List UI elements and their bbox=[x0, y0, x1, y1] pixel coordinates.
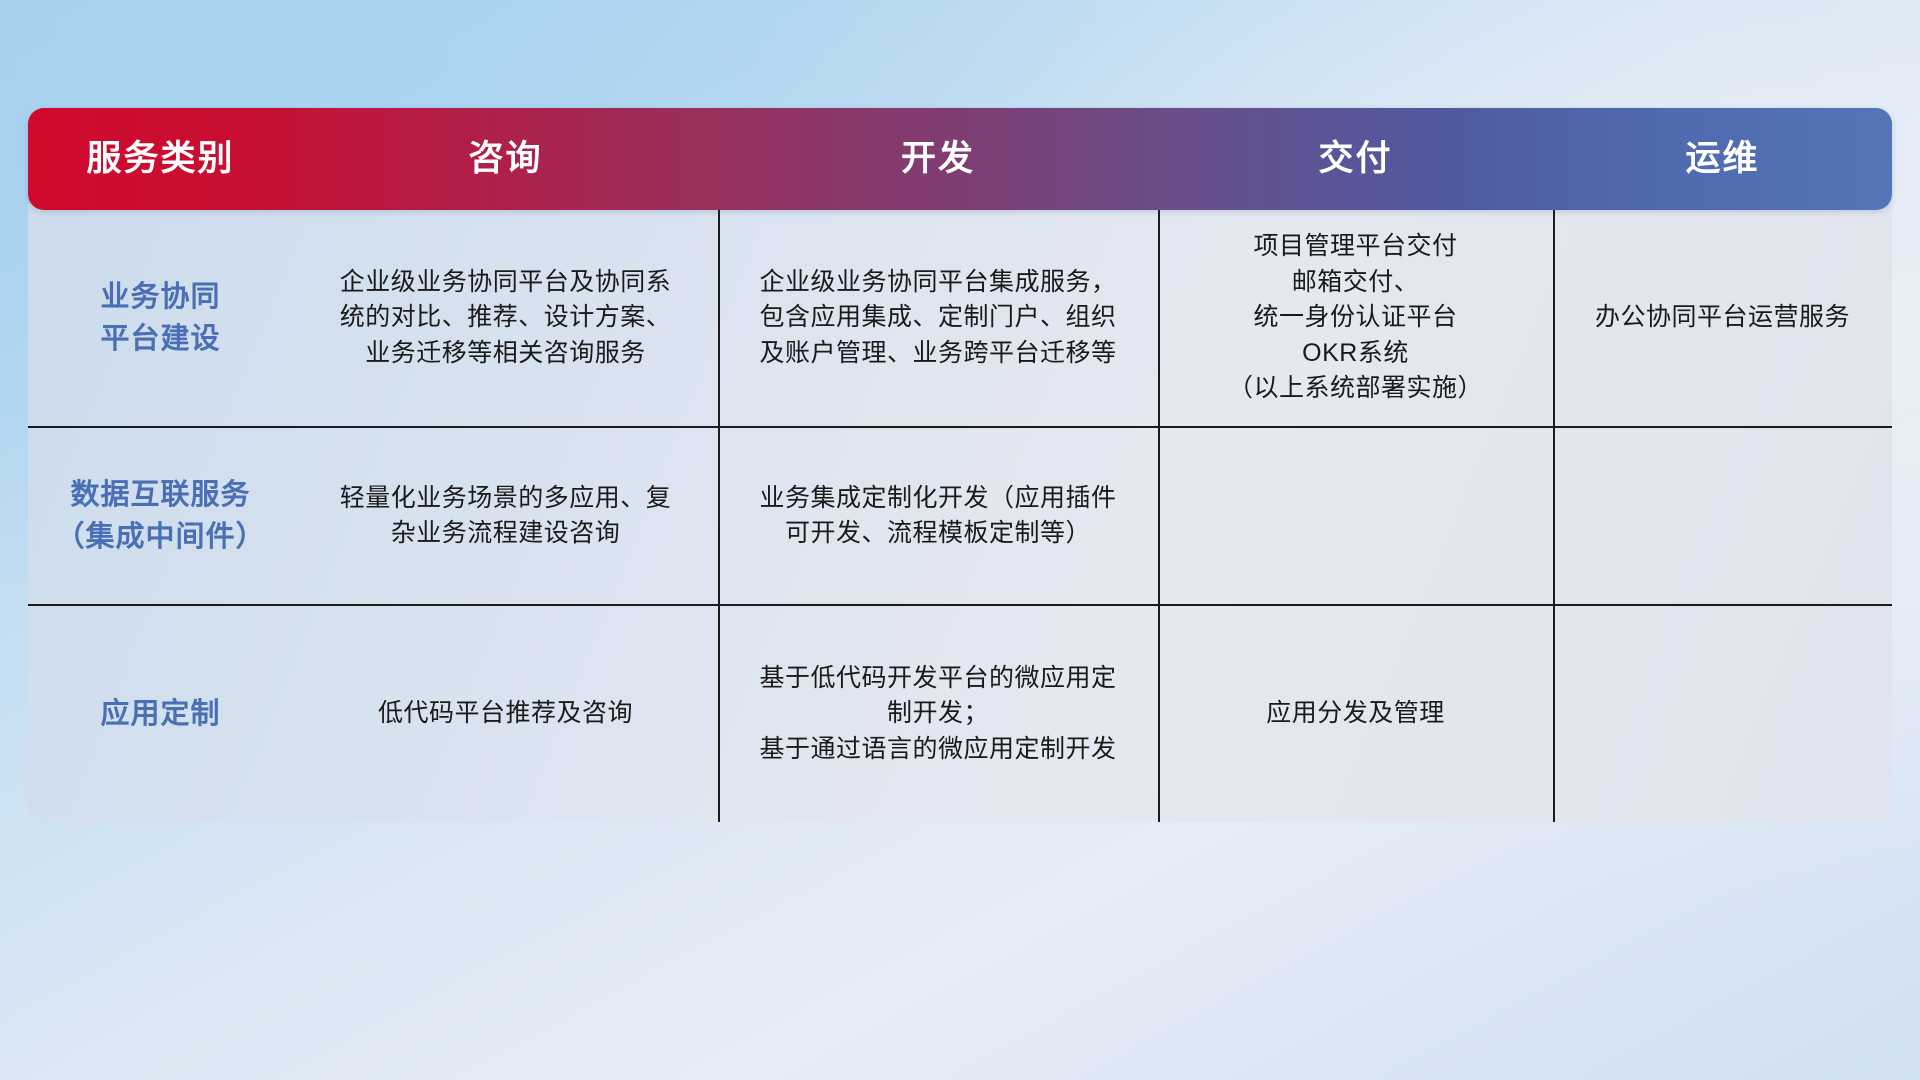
column-header-label: 咨询 bbox=[468, 140, 542, 179]
cell-delivery bbox=[1158, 428, 1553, 604]
cell-development: 业务集成定制化开发（应用插件 可开发、流程模板定制等） bbox=[718, 428, 1158, 604]
column-header-consulting: 咨询 bbox=[293, 108, 718, 210]
table-body: 业务协同 平台建设 企业级业务协同平台及协同系 统的对比、推荐、设计方案、 业务… bbox=[28, 204, 1892, 822]
cell-consulting: 低代码平台推荐及咨询 bbox=[293, 606, 718, 822]
cell-operations: 办公协同平台运营服务 bbox=[1553, 210, 1892, 426]
cell-operations bbox=[1553, 428, 1892, 604]
column-header-label: 交付 bbox=[1318, 140, 1392, 179]
cell-development: 基于低代码开发平台的微应用定 制开发； 基于通过语言的微应用定制开发 bbox=[718, 606, 1158, 822]
row-category-label: 业务协同 平台建设 bbox=[28, 210, 293, 426]
column-header-operations: 运维 bbox=[1553, 108, 1892, 210]
service-category-table: 服务类别 咨询 开发 交付 运维 业务协同 平台建设 bbox=[28, 108, 1892, 822]
column-header-development: 开发 bbox=[718, 108, 1158, 210]
table-row: 应用定制 低代码平台推荐及咨询 基于低代码开发平台的微应用定 制开发； 基于通过… bbox=[28, 604, 1892, 822]
column-header-label: 运维 bbox=[1685, 140, 1759, 179]
table-row: 业务协同 平台建设 企业级业务协同平台及协同系 统的对比、推荐、设计方案、 业务… bbox=[28, 210, 1892, 426]
cell-consulting: 轻量化业务场景的多应用、复 杂业务流程建设咨询 bbox=[293, 428, 718, 604]
column-header-delivery: 交付 bbox=[1158, 108, 1553, 210]
table-row: 数据互联服务 （集成中间件） 轻量化业务场景的多应用、复 杂业务流程建设咨询 业… bbox=[28, 426, 1892, 604]
cell-development: 企业级业务协同平台集成服务， 包含应用集成、定制门户、组织 及账户管理、业务跨平… bbox=[718, 210, 1158, 426]
row-category-label: 数据互联服务 （集成中间件） bbox=[28, 428, 293, 604]
cell-delivery: 应用分发及管理 bbox=[1158, 606, 1553, 822]
table-header-row: 服务类别 咨询 开发 交付 运维 bbox=[28, 108, 1892, 210]
column-header-service-category: 服务类别 bbox=[28, 108, 293, 210]
cell-consulting: 企业级业务协同平台及协同系 统的对比、推荐、设计方案、 业务迁移等相关咨询服务 bbox=[293, 210, 718, 426]
column-header-label: 服务类别 bbox=[86, 140, 234, 179]
slide-canvas: 服务类别 咨询 开发 交付 运维 业务协同 平台建设 bbox=[0, 0, 1920, 1080]
row-category-label: 应用定制 bbox=[28, 606, 293, 822]
cell-delivery: 项目管理平台交付 邮箱交付、 统一身份认证平台 OKR系统 （以上系统部署实施） bbox=[1158, 210, 1553, 426]
cell-operations bbox=[1553, 606, 1892, 822]
column-header-label: 开发 bbox=[901, 140, 975, 179]
